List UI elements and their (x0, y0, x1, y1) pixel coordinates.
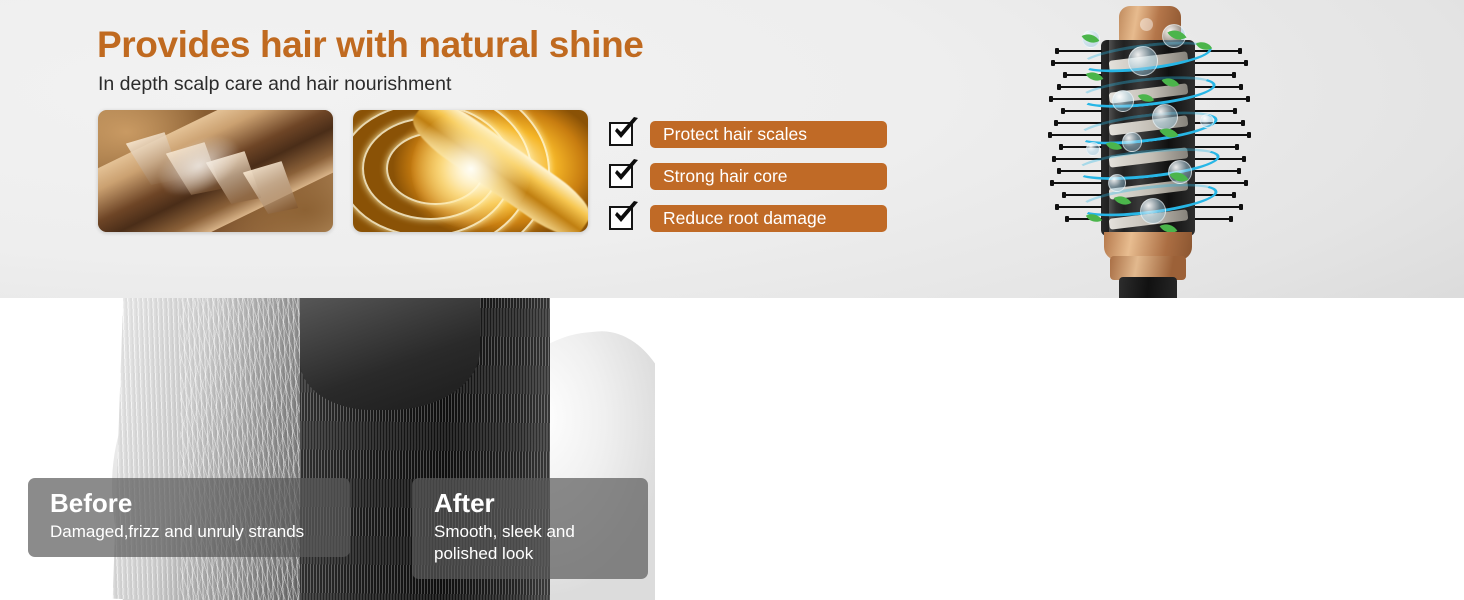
checklist-item-label: Protect hair scales (650, 121, 887, 148)
glow-core (411, 110, 531, 229)
water-droplet (1108, 174, 1126, 192)
brush-cap-button (1140, 18, 1153, 31)
checklist-item: Reduce root damage (609, 204, 887, 232)
checkbox-checked-icon (609, 164, 633, 188)
brush-bristle (1195, 98, 1249, 100)
golden-glow-image (353, 110, 588, 232)
water-droplet (1086, 142, 1100, 156)
water-droplet (1200, 114, 1214, 128)
brush-bristle (1195, 206, 1242, 208)
page-title: Provides hair with natural shine (97, 24, 643, 66)
brush-bristle (1051, 182, 1102, 184)
before-label-panel: Before Damaged,frizz and unruly strands (28, 478, 350, 557)
water-droplet (1152, 104, 1178, 130)
hair-cuticle-image (98, 110, 333, 232)
benefit-checklist: Protect hair scales Strong hair core Red… (609, 120, 887, 246)
brush-bristle (1062, 110, 1102, 112)
water-droplet (1122, 132, 1142, 152)
after-label-panel: After Smooth, sleek and polished look (412, 478, 648, 579)
top-section: Provides hair with natural shine In dept… (0, 0, 1464, 298)
brush-bristle (1195, 170, 1240, 172)
checklist-item-label: Reduce root damage (650, 205, 887, 232)
page-subtitle: In depth scalp care and hair nourishment (98, 73, 451, 96)
brush-bristle (1195, 146, 1238, 148)
brush-bristle (1195, 62, 1247, 64)
brush-bristle (1056, 50, 1102, 52)
brush-bristle (1195, 134, 1250, 136)
brush-bristle (1195, 218, 1232, 220)
water-droplet (1128, 46, 1158, 76)
checkbox-checked-icon (609, 122, 633, 146)
checklist-item: Protect hair scales (609, 120, 887, 148)
checkbox-checked-icon (609, 206, 633, 230)
water-droplet (1112, 90, 1134, 112)
checklist-item-label: Strong hair core (650, 163, 887, 190)
after-title: After (434, 490, 630, 517)
product-feature-banner: Provides hair with natural shine In dept… (0, 0, 1464, 600)
water-droplet (1140, 198, 1166, 224)
before-description: Damaged,frizz and unruly strands (50, 521, 332, 543)
after-description: Smooth, sleek and polished look (434, 521, 630, 565)
hot-air-brush-image (1022, 0, 1272, 298)
brush-bristle (1195, 74, 1235, 76)
before-title: Before (50, 490, 332, 517)
checklist-item: Strong hair core (609, 162, 887, 190)
